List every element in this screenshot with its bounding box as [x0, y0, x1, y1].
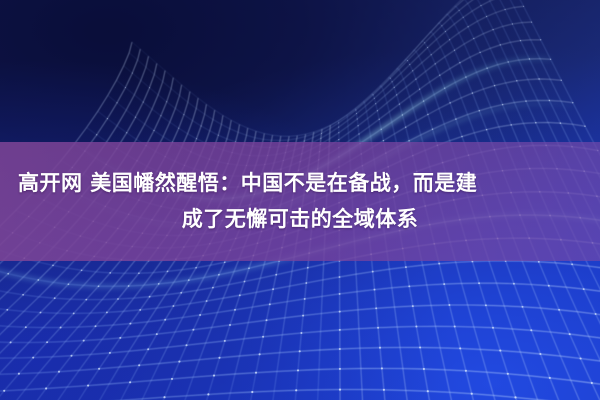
- banner-canvas: 高开网 美国幡然醒悟：中国不是在备战，而是建 成了无懈可击的全域体系: [0, 0, 600, 400]
- headline-block: 高开网 美国幡然醒悟：中国不是在备战，而是建 成了无懈可击的全域体系: [0, 142, 600, 261]
- headline-line-2: 成了无懈可击的全域体系: [182, 204, 419, 236]
- headline-line-1: 高开网 美国幡然醒悟：中国不是在备战，而是建: [8, 168, 477, 200]
